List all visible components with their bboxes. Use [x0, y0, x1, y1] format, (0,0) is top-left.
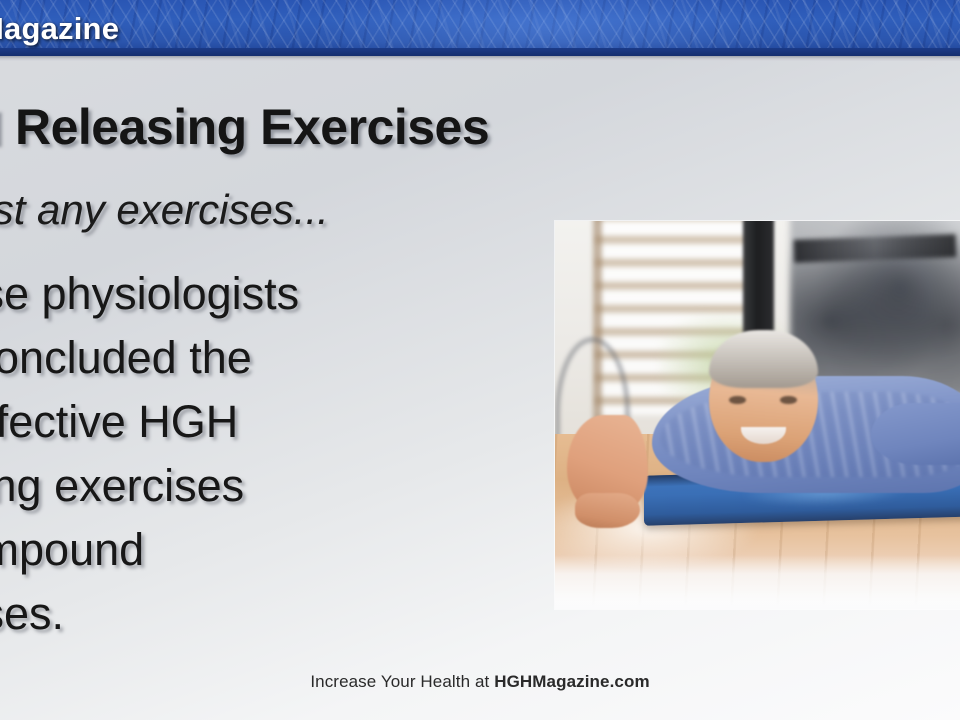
brand-title: Magazine	[0, 11, 119, 47]
body-line: t effective HGH	[0, 390, 554, 454]
man-eye-left	[729, 396, 746, 405]
page-subtitle: just any exercises...	[0, 186, 329, 234]
man-right-arm	[871, 403, 960, 465]
footer-site: HGHMagazine.com	[494, 672, 649, 691]
body-copy: rcise physiologists e concluded the t ef…	[0, 262, 554, 646]
banner-underline	[0, 56, 960, 61]
man-eye-right	[780, 396, 797, 405]
body-line: rcise physiologists	[0, 262, 554, 326]
body-line: rcises.	[0, 582, 554, 646]
header-banner	[0, 0, 960, 56]
photo-image	[555, 221, 960, 609]
hero-photo	[555, 221, 960, 609]
banner-bottom-strip	[0, 48, 960, 56]
bike-handlebar	[794, 234, 957, 263]
footer-cta: Increase Your Health at HGHMagazine.com	[0, 672, 960, 692]
photo-bottom-fade	[555, 591, 960, 609]
footer-prefix: Increase Your Health at	[310, 672, 494, 691]
body-line: compound	[0, 518, 554, 582]
slide-canvas: Magazine H Releasing Exercises just any …	[0, 0, 960, 720]
page-title: H Releasing Exercises	[0, 98, 489, 156]
body-line: e concluded the	[0, 326, 554, 390]
body-line: asing exercises	[0, 454, 554, 518]
man-hand	[575, 493, 640, 528]
